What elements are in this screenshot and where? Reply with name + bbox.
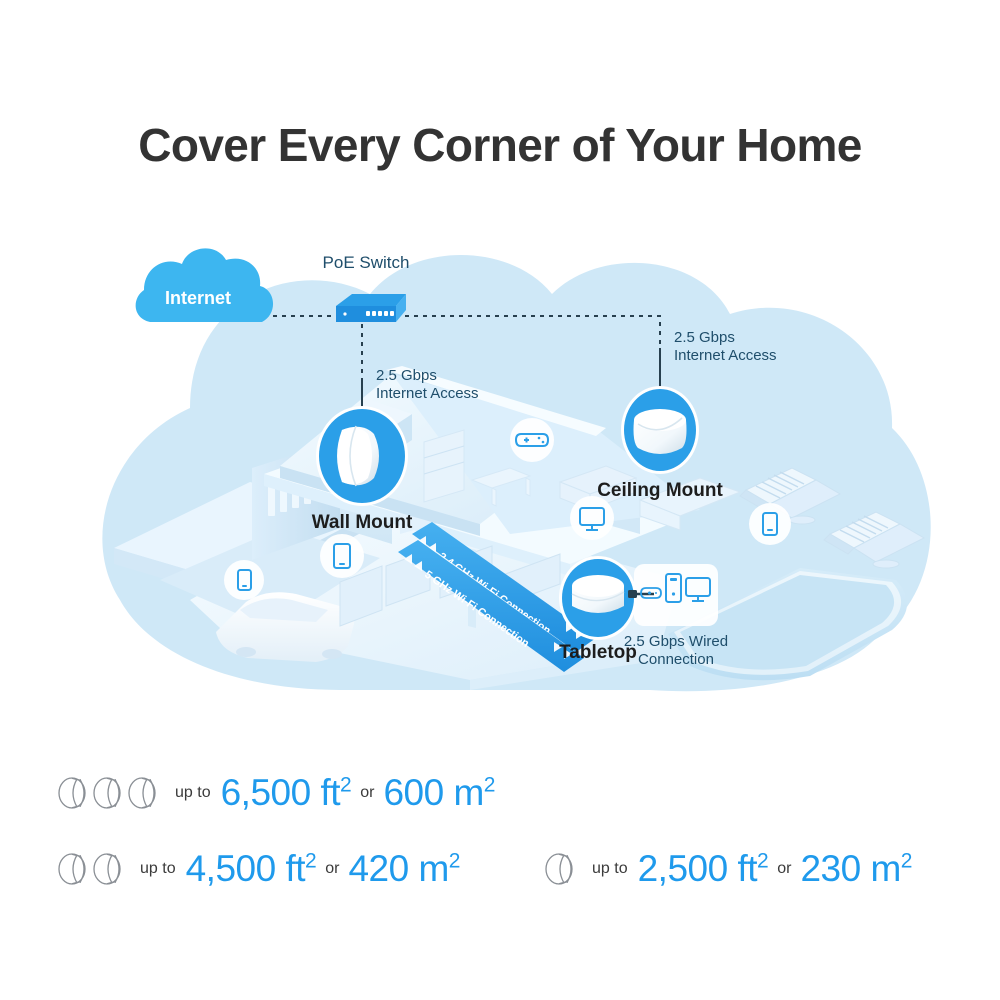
deco-wall-unit-icon	[337, 426, 379, 486]
svg-text:Connection: Connection	[638, 651, 714, 668]
coverage-row-2-units: up to 4,500 ft2 or 420 m2	[58, 848, 460, 890]
deco-tabletop-unit-icon	[572, 575, 624, 613]
coverage-sqm: 600 m2	[383, 772, 495, 814]
client-bubble-tablet-hall	[320, 534, 364, 578]
coverage-sqft: 6,500 ft2	[221, 772, 352, 814]
client-bubble-monitor	[570, 496, 614, 540]
coverage-row-1-unit: up to 2,500 ft2 or 230 m2	[545, 848, 912, 890]
page-title: Cover Every Corner of Your Home	[0, 118, 1000, 172]
wired-devices-card: 2.5 Gbps Wired Connection	[624, 564, 728, 668]
unit-count-icons	[58, 851, 128, 887]
svg-text:2.5 Gbps Wired: 2.5 Gbps Wired	[624, 633, 728, 650]
svg-text:Internet Access: Internet Access	[376, 385, 479, 402]
client-bubble-phone-pool	[749, 503, 791, 545]
coverage-row-3-units: up to 6,500 ft2 or 600 m2	[58, 772, 495, 814]
unit-count-icons	[58, 775, 163, 811]
unit-count-icons	[545, 851, 580, 887]
wired-connection-label: 2.5 Gbps Wired Connection	[624, 633, 728, 668]
node-wall-mount[interactable]: Wall Mount	[312, 406, 413, 533]
svg-text:2.5 Gbps: 2.5 Gbps	[674, 329, 735, 346]
coverage-sqm: 230 m2	[800, 848, 912, 890]
svg-text:Internet Access: Internet Access	[674, 347, 777, 364]
client-bubble-phone-garage	[224, 560, 264, 600]
or-label: or	[325, 860, 339, 878]
poe-switch-label: PoE Switch	[323, 253, 410, 272]
product-coverage-page: Cover Every Corner of Your Home	[0, 0, 1000, 1000]
node-wall-mount-label: Wall Mount	[312, 512, 413, 533]
client-bubble-gamepad	[510, 418, 554, 462]
or-label: or	[360, 784, 374, 802]
coverage-sqft: 4,500 ft2	[186, 848, 317, 890]
internet-cloud: Internet	[136, 248, 273, 322]
coverage-sqm: 420 m2	[348, 848, 460, 890]
node-ceiling-mount-label: Ceiling Mount	[597, 480, 723, 501]
up-to-label: up to	[592, 860, 628, 878]
coverage-sqft: 2,500 ft2	[638, 848, 769, 890]
svg-text:2.5 Gbps: 2.5 Gbps	[376, 367, 437, 384]
or-label: or	[777, 860, 791, 878]
up-to-label: up to	[140, 860, 176, 878]
deco-ceiling-unit-icon	[634, 409, 687, 454]
internet-cloud-label: Internet	[165, 288, 231, 308]
home-coverage-diagram: 2.4 GHz Wi-Fi Connection 5 GHz Wi-Fi Con…	[40, 228, 960, 698]
up-to-label: up to	[175, 784, 211, 802]
